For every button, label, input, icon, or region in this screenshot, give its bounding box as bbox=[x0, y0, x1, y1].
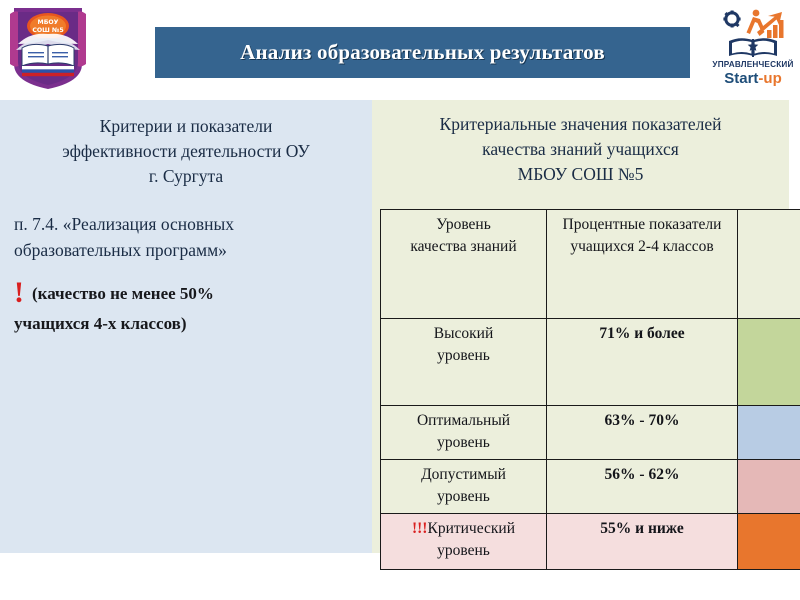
right-heading-line-3: МБОУ СОШ №5 bbox=[372, 162, 789, 187]
row-value-critical: 55% и ниже bbox=[547, 514, 738, 570]
row-level-line-2: уровень bbox=[385, 540, 542, 562]
header-cell-swatch bbox=[738, 210, 800, 319]
left-panel-heading: Критерии и показатели эффективности деят… bbox=[14, 114, 358, 189]
header-percent-line-2: учащихся 2-4 классов bbox=[551, 236, 733, 258]
startup-gear-chart-book-icon bbox=[716, 6, 790, 60]
exclamation-mark-icon: ! bbox=[14, 276, 24, 309]
table-row: Допустимый уровень 56% - 62% bbox=[381, 460, 800, 514]
criteria-table: Уровень качества знаний Процентные показ… bbox=[380, 209, 800, 570]
critical-exclamations-icon: !!! bbox=[412, 520, 428, 537]
row-swatch-critical bbox=[738, 514, 800, 570]
startup-logo-word-start: Start bbox=[724, 70, 758, 87]
page-title: Анализ образовательных результатов bbox=[240, 40, 605, 65]
startup-logo: УПРАВЛЕНЧЕСКИЙ Start-up bbox=[712, 6, 794, 92]
right-panel-heading: Критериальные значения показателей качес… bbox=[372, 100, 789, 187]
swatch-pink bbox=[738, 460, 800, 513]
header-level-line-2: качества знаний bbox=[385, 236, 542, 258]
svg-text:СОШ №5: СОШ №5 bbox=[32, 27, 63, 34]
row-level-line-1: Высокий bbox=[385, 323, 542, 345]
left-heading-line-1: Критерии и показатели bbox=[14, 114, 358, 139]
left-body-line-2: образовательных программ» bbox=[14, 237, 358, 263]
row-level-high: Высокий уровень bbox=[381, 319, 547, 406]
startup-logo-tagline: УПРАВЛЕНЧЕСКИЙ bbox=[712, 60, 793, 70]
slide-title-bar: Анализ образовательных результатов bbox=[155, 27, 690, 78]
right-heading-line-2: качества знаний учащихся bbox=[372, 137, 789, 162]
left-panel-body: п. 7.4. «Реализация основных образовател… bbox=[14, 211, 358, 263]
school-crest-icon: МБОУ СОШ №5 bbox=[8, 4, 88, 92]
swatch-blue bbox=[738, 406, 800, 459]
left-body-line-1: п. 7.4. «Реализация основных bbox=[14, 211, 358, 237]
row-level-critical: !!!Критический уровень bbox=[381, 514, 547, 570]
row-swatch-acceptable bbox=[738, 460, 800, 514]
row-swatch-high bbox=[738, 319, 800, 406]
row-level-line-2: уровень bbox=[385, 345, 542, 367]
swatch-orange bbox=[738, 514, 800, 569]
table-header-row: Уровень качества знаний Процентные показ… bbox=[381, 210, 800, 319]
warning-line-1: (качество не менее 50% bbox=[32, 284, 214, 303]
row-level-line-1: !!!Критический bbox=[385, 518, 542, 540]
row-level-line-1: Оптимальный bbox=[385, 410, 542, 432]
warning-line-2: учащихся 4-х классов) bbox=[14, 309, 358, 339]
startup-logo-word-up: -up bbox=[758, 70, 781, 87]
row-level-line-2: уровень bbox=[385, 432, 542, 454]
table-row: Оптимальный уровень 63% - 70% bbox=[381, 406, 800, 460]
header-percent-line-1: Процентные показатели bbox=[551, 214, 733, 236]
header-level-line-1: Уровень bbox=[385, 214, 542, 236]
table-row: !!!Критический уровень 55% и ниже bbox=[381, 514, 800, 570]
row-level-acceptable: Допустимый уровень bbox=[381, 460, 547, 514]
row-level-optimal: Оптимальный уровень bbox=[381, 406, 547, 460]
right-heading-line-1: Критериальные значения показателей bbox=[372, 112, 789, 137]
left-heading-line-2: эффективности деятельности ОУ bbox=[14, 139, 358, 164]
row-level-line-1: Допустимый bbox=[385, 464, 542, 486]
row-value-optimal: 63% - 70% bbox=[547, 406, 738, 460]
left-heading-line-3: г. Сургута bbox=[14, 164, 358, 189]
row-level-line-2: уровень bbox=[385, 486, 542, 508]
row-value-high: 71% и более bbox=[547, 319, 738, 406]
header-cell-percent: Процентные показатели учащихся 2-4 класс… bbox=[547, 210, 738, 319]
svg-text:МБОУ: МБОУ bbox=[38, 19, 59, 26]
left-panel-warning: !(качество не менее 50% учащихся 4-х кла… bbox=[14, 279, 358, 339]
warning-first-line: !(качество не менее 50% bbox=[14, 279, 358, 309]
row-value-acceptable: 56% - 62% bbox=[547, 460, 738, 514]
swatch-green bbox=[738, 319, 800, 405]
row-level-critical-text: Критический bbox=[427, 520, 515, 537]
table-row: Высокий уровень 71% и более bbox=[381, 319, 800, 406]
startup-logo-wordmark: Start-up bbox=[724, 70, 782, 87]
left-panel: Критерии и показатели эффективности деят… bbox=[0, 100, 372, 553]
slide: МБОУ СОШ №5 Анализ образовательных резул… bbox=[0, 0, 800, 600]
row-swatch-optimal bbox=[738, 406, 800, 460]
header-cell-level: Уровень качества знаний bbox=[381, 210, 547, 319]
